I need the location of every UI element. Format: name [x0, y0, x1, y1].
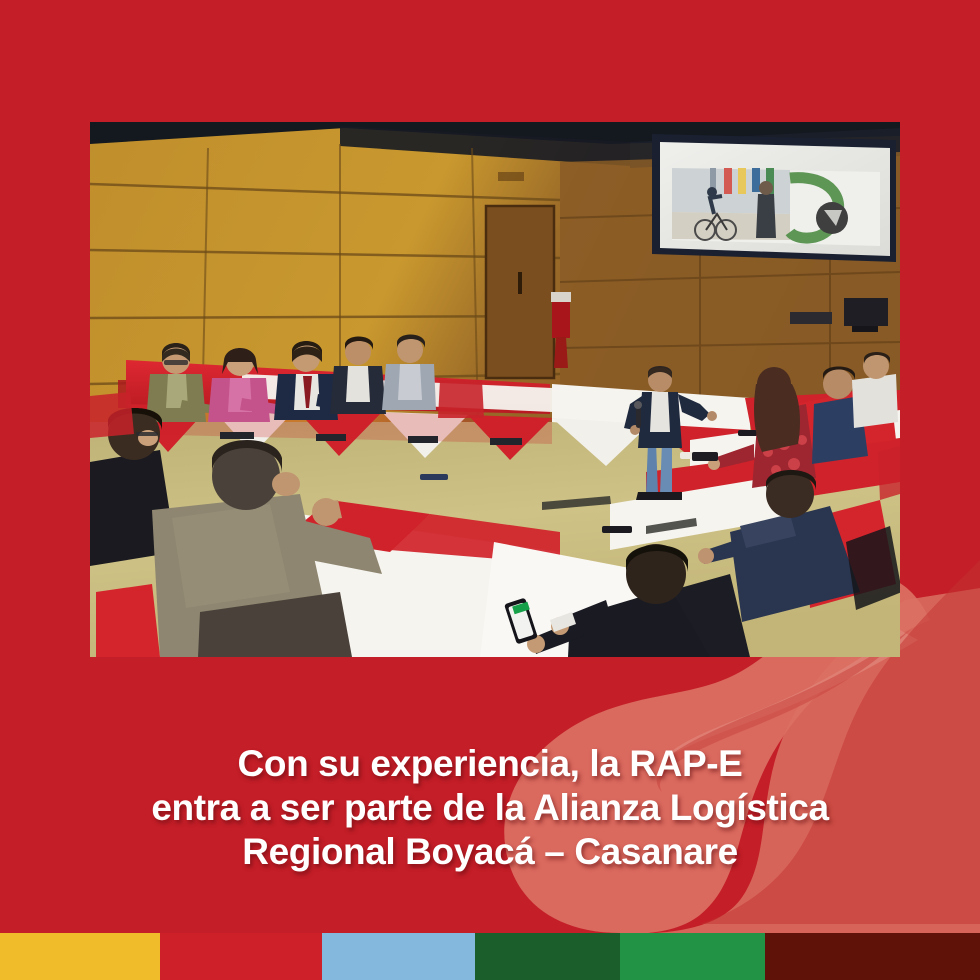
- av-monitor: [844, 298, 888, 326]
- wall-sign: [551, 292, 571, 302]
- colorbar-segment-dark-maroon: [765, 933, 980, 980]
- door-sign: [498, 172, 524, 181]
- remote-on-table: [602, 526, 632, 533]
- colorbar-segment-dark-green: [475, 933, 620, 980]
- projection-screen: [652, 134, 896, 262]
- event-photo-svg: [90, 122, 900, 657]
- wall-red-box: [552, 298, 570, 338]
- fire-extinguisher: [554, 337, 568, 368]
- headline-line-2: entra a ser parte de la Alianza Logístic…: [0, 786, 980, 830]
- event-photo: [90, 122, 900, 657]
- bottom-color-bar: [0, 933, 980, 980]
- projected-slide: [672, 168, 880, 246]
- colorbar-segment-yellow: [0, 933, 160, 980]
- door-handle: [518, 272, 522, 294]
- poster-canvas: Con su experiencia, la RAP-E entra a ser…: [0, 0, 980, 980]
- av-monitor-stand: [852, 326, 878, 332]
- item-blue: [420, 474, 448, 480]
- colorbar-segment-green: [620, 933, 765, 980]
- headline-line-1: Con su experiencia, la RAP-E: [0, 742, 980, 786]
- laptop: [790, 312, 832, 324]
- colorbar-segment-red: [160, 933, 322, 980]
- colorbar-segment-light-blue: [322, 933, 475, 980]
- headline: Con su experiencia, la RAP-E entra a ser…: [0, 742, 980, 874]
- headline-line-3: Regional Boyacá – Casanare: [0, 830, 980, 874]
